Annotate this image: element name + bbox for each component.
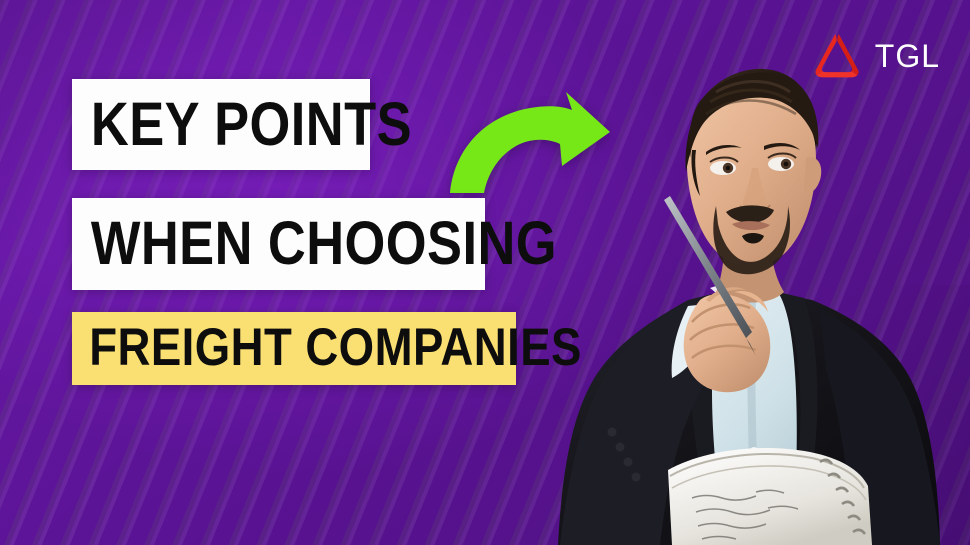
sleeve-button <box>632 473 641 482</box>
title-line-1-text: KEY POINTS <box>72 96 412 154</box>
ear <box>804 157 821 193</box>
pupil-left <box>726 166 731 171</box>
spiral-notebook <box>668 448 872 545</box>
title-line-3-text: FREIGHT COMPANIES <box>72 323 582 373</box>
curved-green-arrow <box>444 88 614 198</box>
sleeve-button <box>616 443 625 452</box>
title-line-3: FREIGHT COMPANIES <box>72 312 516 385</box>
sleeve-button <box>608 428 617 437</box>
title-line-2-text: WHEN CHOOSING <box>72 215 557 273</box>
video-thumbnail: KEY POINTS WHEN CHOOSING FREIGHT COMPANI… <box>0 0 970 545</box>
tgl-triangle-logo-icon <box>811 30 863 82</box>
title-line-1: KEY POINTS <box>72 79 370 170</box>
brand-logo[interactable]: TGL <box>811 30 940 82</box>
sleeve-button <box>624 458 633 467</box>
brand-logo-text: TGL <box>875 38 940 75</box>
pupil-right <box>784 162 789 167</box>
title-line-2: WHEN CHOOSING <box>72 198 485 290</box>
